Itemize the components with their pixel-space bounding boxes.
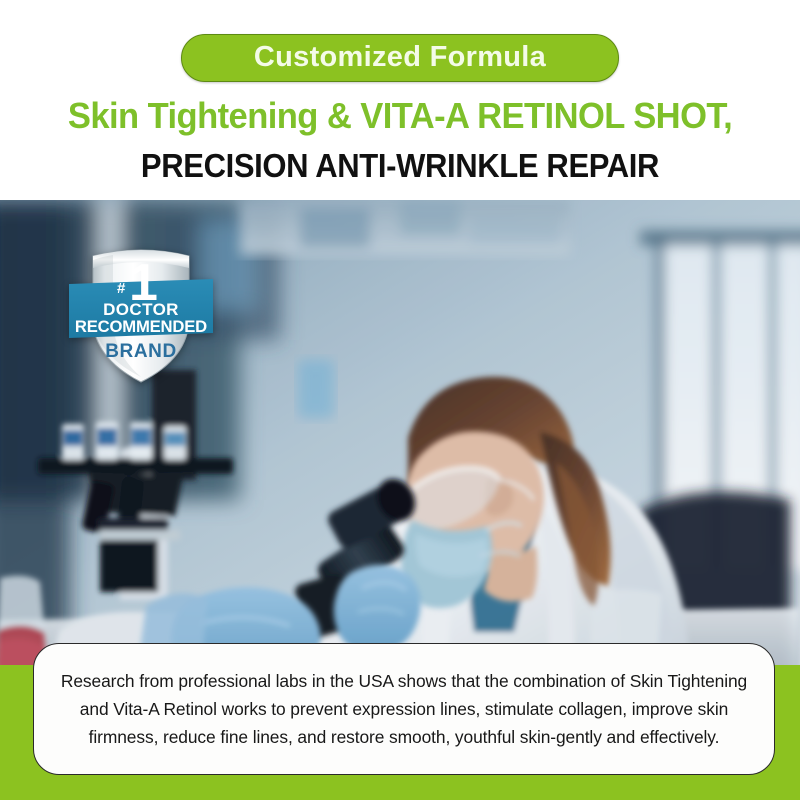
shield-icon: # 1 DOCTOR RECOMMENDED BRAND <box>55 240 227 388</box>
page-title: Skin Tightening & VITA-A RETINOL SHOT, <box>16 96 784 136</box>
page-subtitle: PRECISION ANTI-WRINKLE REPAIR <box>24 148 776 184</box>
banner-header: Customized Formula Skin Tightening & VIT… <box>0 0 800 200</box>
badge-line-brand: BRAND <box>105 341 177 362</box>
doctor-recommended-badge: # 1 DOCTOR RECOMMENDED BRAND <box>55 240 227 388</box>
badge-line-recommended: RECOMMENDED <box>75 317 207 336</box>
pill-container: Customized Formula <box>0 34 800 82</box>
rank-hash: # <box>117 280 126 297</box>
customized-formula-pill: Customized Formula <box>181 34 619 82</box>
research-body-text: Research from professional labs in the U… <box>34 667 774 752</box>
research-text-card: Research from professional labs in the U… <box>33 643 775 775</box>
promo-banner: Customized Formula Skin Tightening & VIT… <box>0 0 800 800</box>
